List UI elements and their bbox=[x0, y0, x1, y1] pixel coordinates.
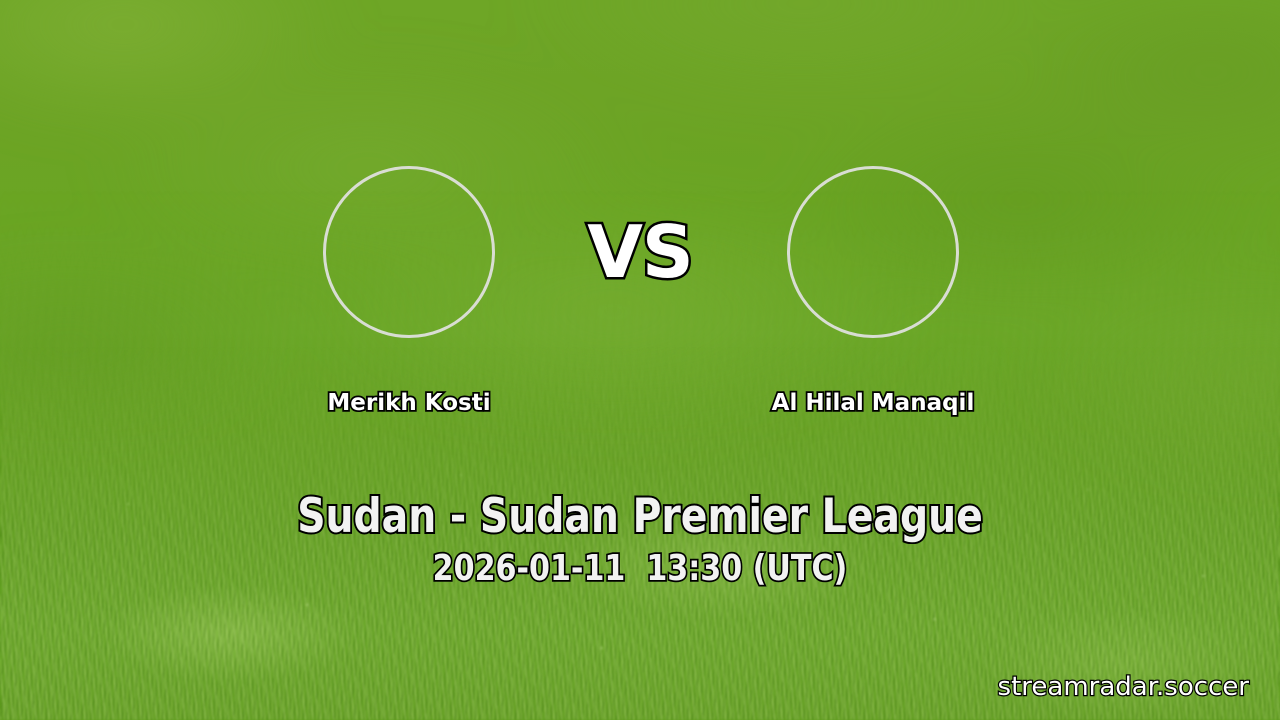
away-team-name: Al Hilal Manaqil bbox=[697, 392, 1049, 415]
competition-name: Sudan - Sudan Premier League bbox=[45, 493, 1235, 540]
kickoff-datetime: 2026-01-11 13:30 (UTC) bbox=[45, 551, 1235, 587]
match-content: VS Merikh Kosti Al Hilal Manaqil Sudan -… bbox=[0, 0, 1280, 720]
match-preview-card: VS Merikh Kosti Al Hilal Manaqil Sudan -… bbox=[0, 0, 1280, 720]
versus-label: VS bbox=[0, 216, 1280, 288]
home-team-name: Merikh Kosti bbox=[233, 392, 585, 415]
site-watermark: streamradar.soccer bbox=[998, 674, 1249, 700]
